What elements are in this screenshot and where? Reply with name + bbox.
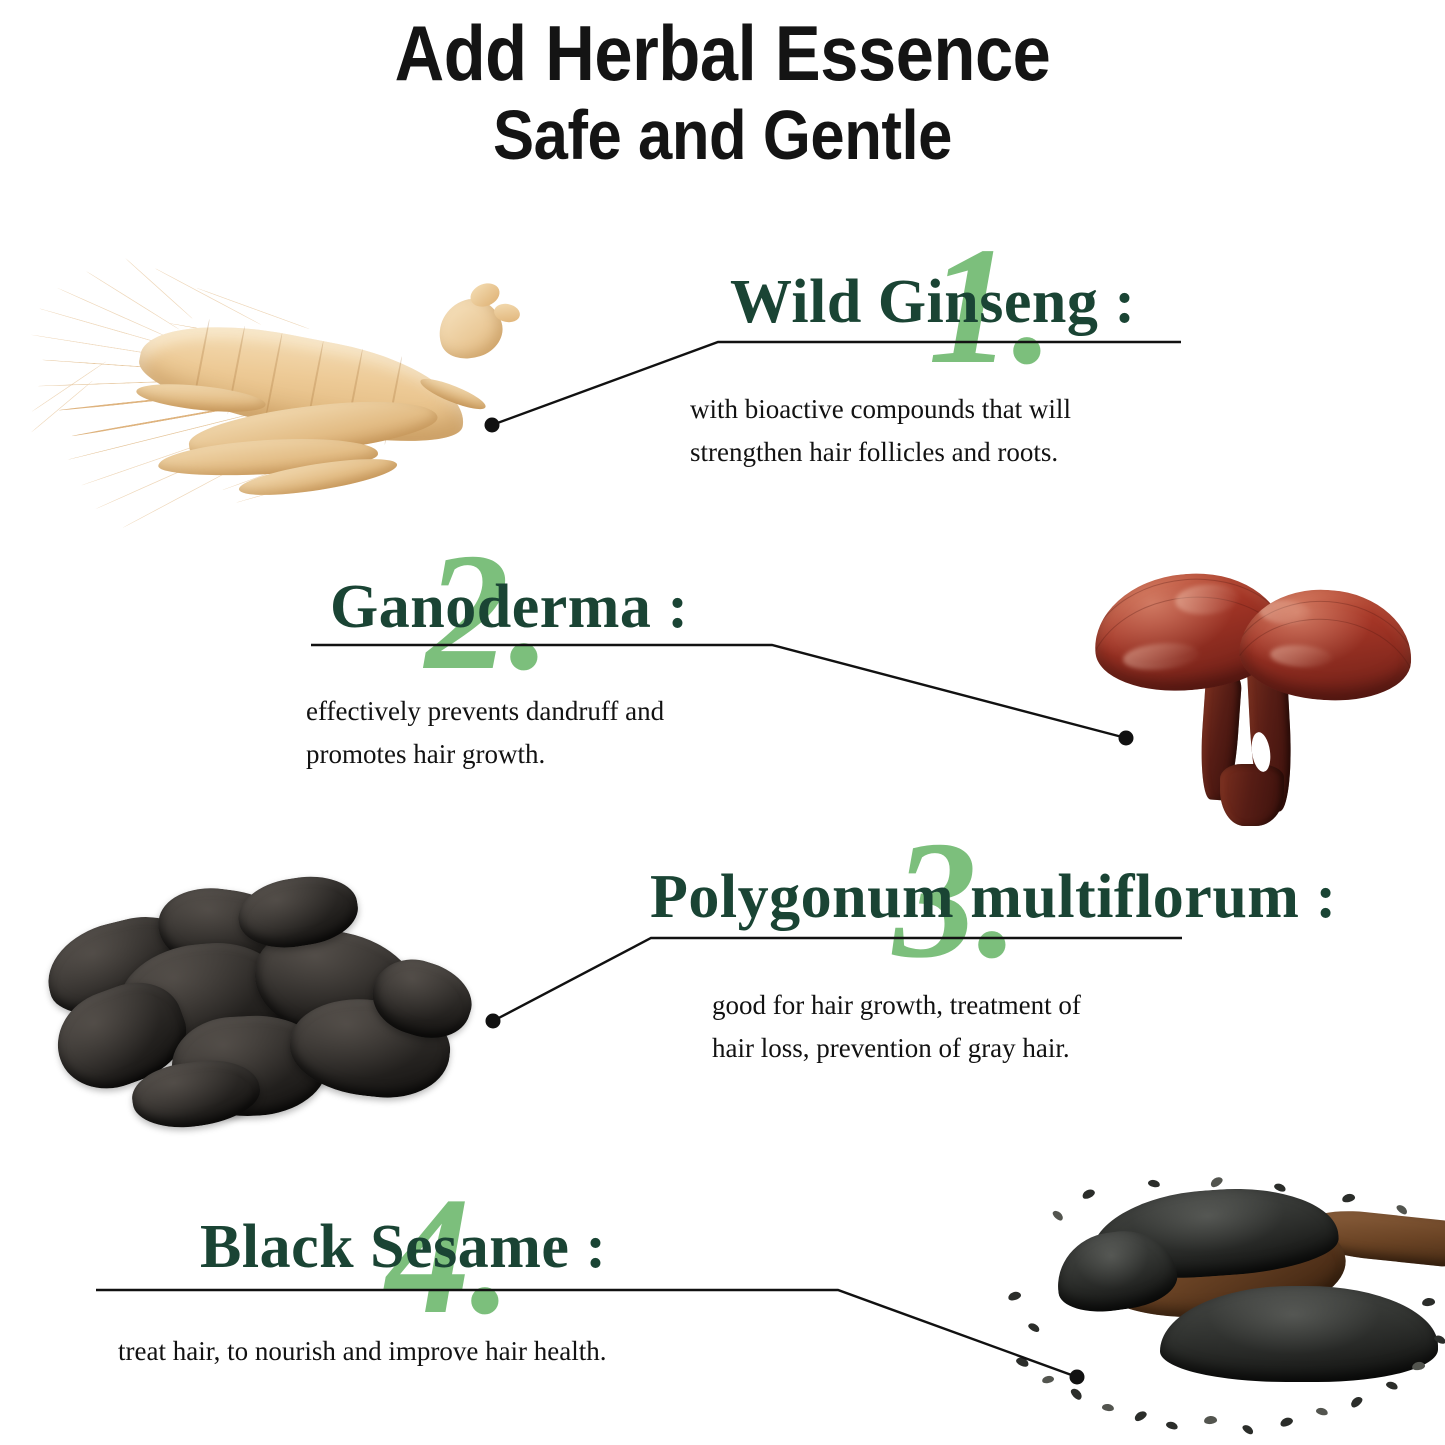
section-body-4-line-1: treat hair, to nourish and improve hair … (118, 1330, 878, 1373)
section-heading-2: Ganoderma : (330, 572, 689, 643)
section-body-4: treat hair, to nourish and improve hair … (118, 1330, 878, 1373)
polygonum-multiflorum-root-slices-photo (22, 866, 482, 1138)
title-line-2: Safe and Gentle (87, 100, 1359, 170)
black-sesame-seeds-photo (998, 1176, 1445, 1445)
section-body-1-line-1: with bioactive compounds that will (690, 388, 1210, 431)
section-body-3-line-2: hair loss, prevention of gray hair. (712, 1027, 1232, 1070)
section-body-1: with bioactive compounds that will stren… (690, 388, 1210, 473)
ganoderma-reishi-mushroom-photo (1062, 552, 1422, 832)
section-heading-3: Polygonum multiflorum : (650, 862, 1337, 933)
connector-dot-3 (486, 1014, 501, 1029)
reishi-cap-right (1236, 584, 1415, 706)
section-body-1-line-2: strengthen hair follicles and roots. (690, 431, 1210, 474)
section-body-2-line-1: effectively prevents dandruff and (306, 690, 826, 733)
section-heading-1: Wild Ginseng : (730, 267, 1136, 338)
title-line-1: Add Herbal Essence (87, 14, 1359, 92)
section-body-2-line-2: promotes hair growth. (306, 733, 826, 776)
section-body-2: effectively prevents dandruff and promot… (306, 690, 826, 775)
section-heading-4: Black Sesame : (200, 1212, 607, 1283)
section-body-3-line-1: good for hair growth, treatment of (712, 984, 1232, 1027)
ginseng-crown (431, 292, 510, 367)
wild-ginseng-root-photo (18, 278, 528, 530)
section-body-3: good for hair growth, treatment of hair … (712, 984, 1232, 1069)
page-title: Add Herbal Essence Safe and Gentle (0, 14, 1445, 170)
